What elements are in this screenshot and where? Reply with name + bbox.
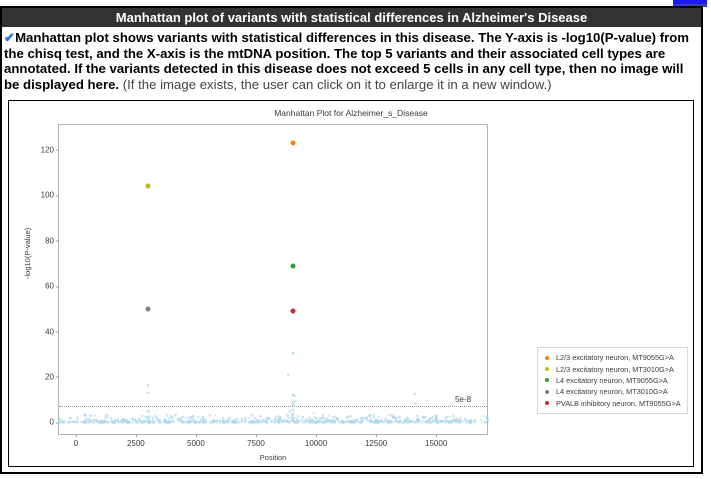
y-axis-tick: 80: [45, 236, 59, 245]
plot-axes: 0204060801001200250050007500100001250015…: [58, 124, 488, 435]
chart-title: Manhattan Plot for Alzheimer_s_Disease: [9, 108, 693, 118]
scatter-point: [247, 416, 250, 419]
scatter-point: [420, 421, 422, 423]
x-axis-tick: 12500: [365, 434, 387, 448]
scatter-point: [460, 416, 462, 418]
scatter-point: [292, 352, 295, 355]
x-axis-tick: 15000: [425, 434, 447, 448]
manhattan-plot-figure[interactable]: Manhattan Plot for Alzheimer_s_Disease 0…: [8, 100, 694, 467]
x-axis-tick: 5000: [187, 434, 205, 448]
top-variant-point: [291, 309, 296, 314]
scatter-point: [171, 417, 173, 419]
y-axis-label: -log10(P-value): [23, 228, 32, 279]
scatter-point: [215, 414, 217, 416]
x-axis-tick: 7500: [247, 434, 265, 448]
scatter-point: [398, 416, 400, 418]
scatter-point: [244, 420, 247, 423]
check-icon: ✔: [4, 30, 15, 45]
legend-item: L2/3 excitatory neuron, MT9055G>A: [542, 352, 681, 363]
scatter-point: [93, 415, 95, 417]
legend-label: L4 excitatory neuron, MT3010G>A: [556, 387, 668, 396]
top-variant-point: [291, 263, 296, 268]
legend-marker-icon: [545, 401, 549, 405]
legend-marker-icon: [545, 378, 549, 382]
scatter-point: [287, 373, 290, 376]
scatter-point: [474, 420, 476, 422]
scatter-point: [292, 408, 295, 411]
x-axis-tick: 10000: [305, 434, 327, 448]
scatter-point: [259, 415, 262, 418]
scatter-point: [174, 414, 176, 416]
scatter-point: [388, 414, 390, 416]
scatter-point: [160, 421, 162, 423]
significance-threshold-label: 5e-8: [455, 395, 471, 404]
legend-label: L2/3 excitatory neuron, MT3010G>A: [556, 365, 674, 374]
scatter-point: [131, 421, 133, 423]
y-axis-tick: 120: [41, 145, 59, 154]
page-title: Manhattan plot of variants with statisti…: [2, 8, 701, 27]
scatter-point: [425, 416, 427, 418]
top-variant-point: [146, 306, 151, 311]
legend: L2/3 excitatory neuron, MT9055G>AL2/3 ex…: [537, 347, 688, 414]
scatter-point: [183, 416, 185, 418]
description-text: ✔Manhattan plot shows variants with stat…: [2, 27, 701, 94]
x-axis-tick: 0: [74, 434, 78, 448]
scatter-point: [448, 415, 450, 417]
description-note: (If the image exists, the user can click…: [123, 77, 552, 92]
scatter-point: [197, 416, 199, 418]
x-axis-label: Position: [58, 453, 488, 462]
scatter-point: [413, 393, 416, 396]
scatter-point: [294, 400, 297, 403]
result-panel: Manhattan plot of variants with statisti…: [0, 6, 703, 474]
legend-marker-icon: [545, 356, 549, 360]
legend-marker-icon: [545, 390, 549, 394]
scatter-point: [414, 402, 417, 405]
top-variant-point: [291, 141, 296, 146]
scatter-point: [312, 412, 315, 415]
scatter-point: [425, 399, 428, 402]
scatter-point: [377, 415, 379, 417]
x-axis-tick: 2500: [127, 434, 145, 448]
scatter-point: [92, 421, 94, 423]
legend-label: L2/3 excitatory neuron, MT9055G>A: [556, 353, 674, 362]
y-axis-tick: 100: [41, 191, 59, 200]
scatter-point: [293, 394, 296, 397]
scatter-point: [235, 418, 237, 420]
scatter-point: [349, 415, 351, 417]
y-axis-tick: 20: [45, 372, 59, 381]
legend-label: PVALB inhibitory neuron, MT9055G>A: [556, 399, 681, 408]
scatter-point: [288, 410, 291, 413]
scatter-point: [147, 384, 150, 387]
scatter-point: [172, 420, 175, 423]
scatter-point: [198, 421, 200, 423]
legend-marker-icon: [545, 367, 549, 371]
scatter-point: [482, 415, 484, 417]
scatter-point: [416, 414, 419, 417]
y-axis-tick: 40: [45, 327, 59, 336]
legend-label: L4 excitatory neuron, MT9055G>A: [556, 376, 668, 385]
scatter-point: [69, 417, 71, 419]
legend-item: L4 excitatory neuron, MT9055G>A: [542, 375, 681, 386]
legend-item: L2/3 excitatory neuron, MT3010G>A: [542, 363, 681, 374]
plot-canvas: Manhattan Plot for Alzheimer_s_Disease 0…: [9, 101, 693, 466]
scatter-point: [209, 414, 211, 416]
scatter-point: [147, 392, 150, 395]
scatter-point: [147, 410, 150, 413]
scatter-point: [328, 414, 330, 416]
legend-item: L4 excitatory neuron, MT3010G>A: [542, 386, 681, 397]
y-axis-tick: 60: [45, 282, 59, 291]
legend-item: PVALB inhibitory neuron, MT9055G>A: [542, 398, 681, 409]
top-variant-point: [146, 184, 151, 189]
significance-threshold-line: [59, 406, 487, 407]
